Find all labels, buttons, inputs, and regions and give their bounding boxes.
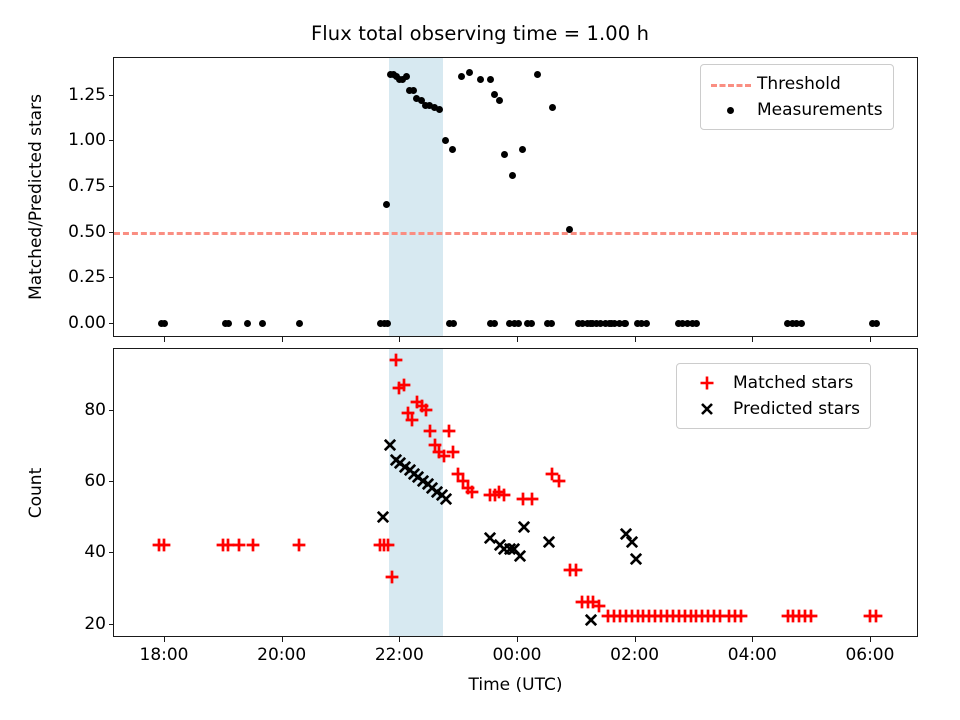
measurement-point <box>496 97 503 104</box>
count-ytick-label: 20 <box>84 614 106 634</box>
legend-entry-threshold: Threshold <box>709 71 883 97</box>
measurement-point <box>225 320 232 327</box>
matched-star-point <box>392 577 393 578</box>
count-ytick-label: 40 <box>84 542 106 562</box>
ratio-ytick <box>109 95 115 96</box>
matched-star-point <box>404 385 405 386</box>
count-ytick <box>109 481 115 482</box>
threshold-line <box>114 232 917 235</box>
time-xtick <box>752 636 753 642</box>
time-xtick-label: 04:00 <box>728 645 777 665</box>
legend-entry-matched: Matched stars <box>685 370 860 396</box>
count-ytick <box>109 410 115 411</box>
cross-marker-icon <box>685 398 729 420</box>
ratio-ytick-label: 0.75 <box>68 176 106 196</box>
time-xtick-label: 22:00 <box>375 645 424 665</box>
count-ytick-label: 60 <box>84 471 106 491</box>
count-panel-legend: Matched stars Predicted stars <box>676 363 871 429</box>
ratio-ytick-label: 0.25 <box>68 267 106 287</box>
measurement-point <box>450 320 457 327</box>
time-xtick-label: 02:00 <box>610 645 659 665</box>
measurement-point <box>466 69 473 76</box>
ratio-xtick <box>164 336 165 342</box>
measurement-point <box>534 71 541 78</box>
matched-star-point <box>412 420 413 421</box>
measurement-point <box>643 320 650 327</box>
matched-star-point <box>811 616 812 617</box>
ratio-xtick <box>399 336 400 342</box>
matched-star-point <box>576 570 577 571</box>
count-ytick <box>109 552 115 553</box>
matched-star-point <box>504 495 505 496</box>
count-axis-label: Count <box>26 467 46 518</box>
predicted-star-point <box>549 542 550 543</box>
time-xtick <box>517 636 518 642</box>
measurement-point <box>487 76 494 83</box>
legend-label-threshold: Threshold <box>753 74 841 94</box>
time-xtick-label: 00:00 <box>492 645 541 665</box>
ratio-xtick <box>282 336 283 342</box>
measurement-point <box>549 104 556 111</box>
ratio-ytick <box>109 186 115 187</box>
matched-star-point <box>453 452 454 453</box>
measurement-point <box>458 73 465 80</box>
ratio-ytick <box>109 323 115 324</box>
matched-star-point <box>239 545 240 546</box>
measurement-point <box>477 76 484 83</box>
measurement-point <box>528 320 535 327</box>
plus-marker-icon <box>685 372 729 394</box>
ratio-xtick <box>635 336 636 342</box>
time-xtick <box>635 636 636 642</box>
legend-label-matched: Matched stars <box>729 373 853 393</box>
measurement-point <box>519 146 526 153</box>
ratio-ytick <box>109 140 115 141</box>
ratio-panel-legend: Threshold Measurements <box>700 64 894 130</box>
ratio-axis-label: Matched/Predicted stars <box>26 94 46 300</box>
measurement-point <box>873 320 880 327</box>
matched-star-point <box>472 492 473 493</box>
count-ytick <box>109 624 115 625</box>
measurement-point <box>449 146 456 153</box>
matched-star-point <box>426 410 427 411</box>
matched-star-point <box>299 545 300 546</box>
count-ytick-label: 80 <box>84 400 106 420</box>
measurement-point <box>161 320 168 327</box>
matched-star-point <box>396 360 397 361</box>
measurement-point <box>491 320 498 327</box>
matched-star-point <box>228 545 229 546</box>
predicted-star-point <box>490 538 491 539</box>
matched-star-point <box>559 481 560 482</box>
predicted-star-point <box>632 542 633 543</box>
matched-star-point <box>532 499 533 500</box>
ratio-ytick-label: 0.50 <box>68 222 106 242</box>
matched-star-point <box>599 606 600 607</box>
measurement-point <box>548 320 555 327</box>
time-xtick <box>282 636 283 642</box>
predicted-star-point <box>636 559 637 560</box>
measurement-point <box>436 106 443 113</box>
measurement-point <box>798 320 805 327</box>
ratio-xtick <box>870 336 871 342</box>
time-xtick-label: 18:00 <box>140 645 189 665</box>
measurement-point <box>259 320 266 327</box>
matched-star-point <box>388 545 389 546</box>
ratio-ytick <box>109 232 115 233</box>
measurement-point <box>515 320 522 327</box>
matched-star-point <box>253 545 254 546</box>
ratio-ytick-label: 1.00 <box>68 130 106 150</box>
matched-star-point <box>430 431 431 432</box>
dot-marker-icon <box>709 99 753 121</box>
time-xtick <box>870 636 871 642</box>
time-xtick-label: 06:00 <box>845 645 894 665</box>
matched-star-point <box>741 616 742 617</box>
measurement-point <box>244 320 251 327</box>
predicted-star-point <box>520 556 521 557</box>
matplotlib-figure: Flux total observing time = 1.00 h 0.000… <box>0 0 960 720</box>
legend-entry-predicted: Predicted stars <box>685 396 860 422</box>
figure-title: Flux total observing time = 1.00 h <box>0 22 960 45</box>
measurement-point <box>383 201 390 208</box>
measurement-point <box>621 320 628 327</box>
time-xtick <box>399 636 400 642</box>
predicted-star-point <box>390 445 391 446</box>
legend-label-measurements: Measurements <box>753 100 883 120</box>
predicted-star-point <box>383 517 384 518</box>
predicted-star-point <box>446 499 447 500</box>
matched-star-point <box>164 545 165 546</box>
ratio-ytick-label: 1.25 <box>68 85 106 105</box>
ratio-xtick <box>752 336 753 342</box>
matched-star-point <box>444 456 445 457</box>
measurement-point <box>296 320 303 327</box>
measurement-point <box>403 73 410 80</box>
measurement-point <box>442 137 449 144</box>
ratio-xtick <box>517 336 518 342</box>
legend-entry-measurements: Measurements <box>709 97 883 123</box>
time-xtick-label: 20:00 <box>257 645 306 665</box>
measurement-point <box>509 172 516 179</box>
matched-star-point <box>876 616 877 617</box>
measurement-point <box>693 320 700 327</box>
ratio-ytick <box>109 277 115 278</box>
predicted-star-point <box>524 527 525 528</box>
threshold-line-icon <box>709 73 753 95</box>
time-xtick <box>164 636 165 642</box>
legend-label-predicted: Predicted stars <box>729 399 860 419</box>
ratio-ytick-label: 0.00 <box>68 313 106 333</box>
matched-star-point <box>449 431 450 432</box>
measurement-point <box>501 151 508 158</box>
time-axis-label: Time (UTC) <box>113 675 918 695</box>
measurement-point <box>384 320 391 327</box>
predicted-star-point <box>591 620 592 621</box>
